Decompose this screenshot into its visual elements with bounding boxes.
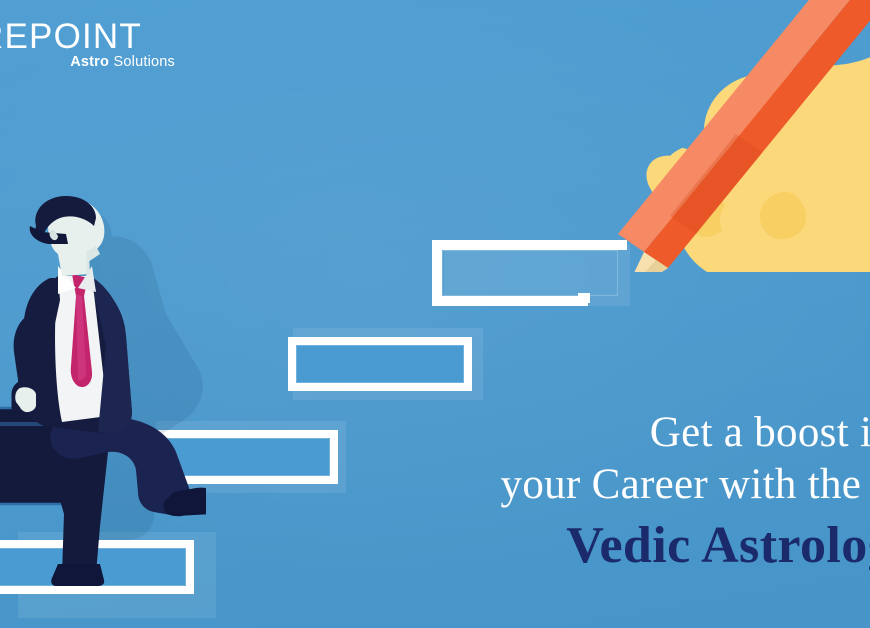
brand-logo[interactable]: REPOINT Astro Solutions: [0, 18, 178, 80]
logo-wordmark: REPOINT: [0, 18, 178, 56]
headline-line-2: your Career with the h: [430, 458, 870, 512]
stair-step-3: [288, 337, 488, 407]
hand-with-pencil-illustration: [586, 0, 870, 272]
headline-line-1: Get a boost in: [430, 406, 870, 460]
back-shoe: [51, 564, 104, 586]
logo-tagline-light: Solutions: [114, 54, 175, 70]
headline-line-3: Vedic Astrolog: [430, 514, 870, 578]
stair-step-4-pencil-trace: [578, 293, 590, 303]
businessman-illustration: [0, 196, 206, 586]
stair-step-3-inner: [296, 345, 464, 383]
stair-step-4-bottom-edge: [432, 296, 588, 306]
headline-block: Get a boost in your Career with the h Ve…: [430, 406, 870, 578]
promo-banner: REPOINT Astro Solutions Get a boost in y…: [0, 0, 870, 628]
logo-tagline-bold: Astro: [70, 54, 109, 70]
logo-tagline: Astro Solutions: [0, 54, 178, 70]
